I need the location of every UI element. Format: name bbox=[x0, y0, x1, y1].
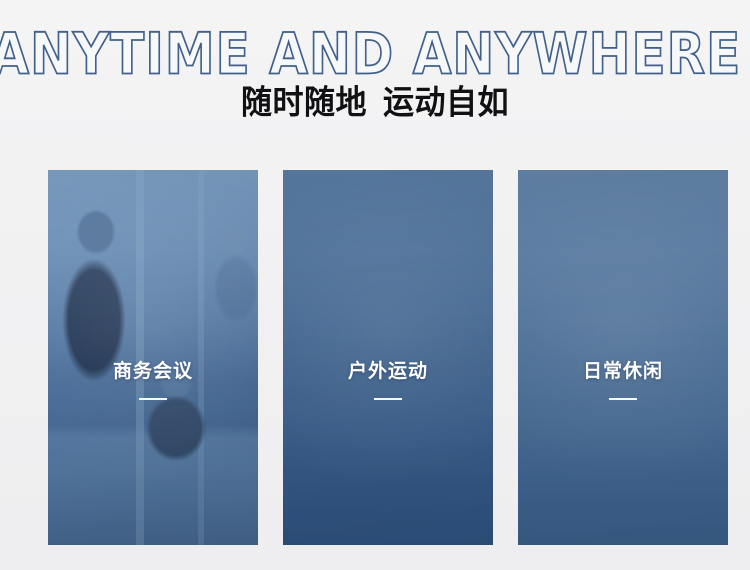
headline-container: ANYTIME AND ANYWHERE FREELY bbox=[0, 26, 750, 75]
card-caption: 户外运动 bbox=[283, 362, 493, 400]
vignette-overlay bbox=[48, 170, 258, 545]
caption-divider bbox=[139, 398, 167, 400]
caption-divider bbox=[374, 398, 402, 400]
caption-divider bbox=[609, 398, 637, 400]
subtitle-phrase-left: 随时随地 bbox=[241, 84, 367, 122]
scene-card-business-meeting[interactable]: 商务会议 bbox=[48, 170, 258, 545]
subtitle-phrase-right: 运动自如 bbox=[383, 84, 509, 122]
card-title: 商务会议 bbox=[48, 362, 258, 381]
headline-text: ANYTIME AND ANYWHERE FREELY bbox=[0, 26, 750, 83]
vignette-overlay bbox=[283, 170, 493, 545]
promo-banner: ANYTIME AND ANYWHERE FREELY 随时随地运动自如 商务会… bbox=[0, 0, 750, 570]
card-caption: 商务会议 bbox=[48, 362, 258, 400]
scene-card-outdoor-sports[interactable]: 户外运动 bbox=[283, 170, 493, 545]
scene-card-row: 商务会议 户外运动 日常休闲 bbox=[48, 170, 728, 545]
card-title: 户外运动 bbox=[283, 362, 493, 381]
scene-card-daily-leisure[interactable]: 日常休闲 bbox=[518, 170, 728, 545]
card-title: 日常休闲 bbox=[518, 362, 728, 381]
vignette-overlay bbox=[518, 170, 728, 545]
card-caption: 日常休闲 bbox=[518, 362, 728, 400]
subtitle-container: 随时随地运动自如 bbox=[0, 86, 750, 120]
subtitle-text: 随时随地运动自如 bbox=[241, 85, 509, 121]
